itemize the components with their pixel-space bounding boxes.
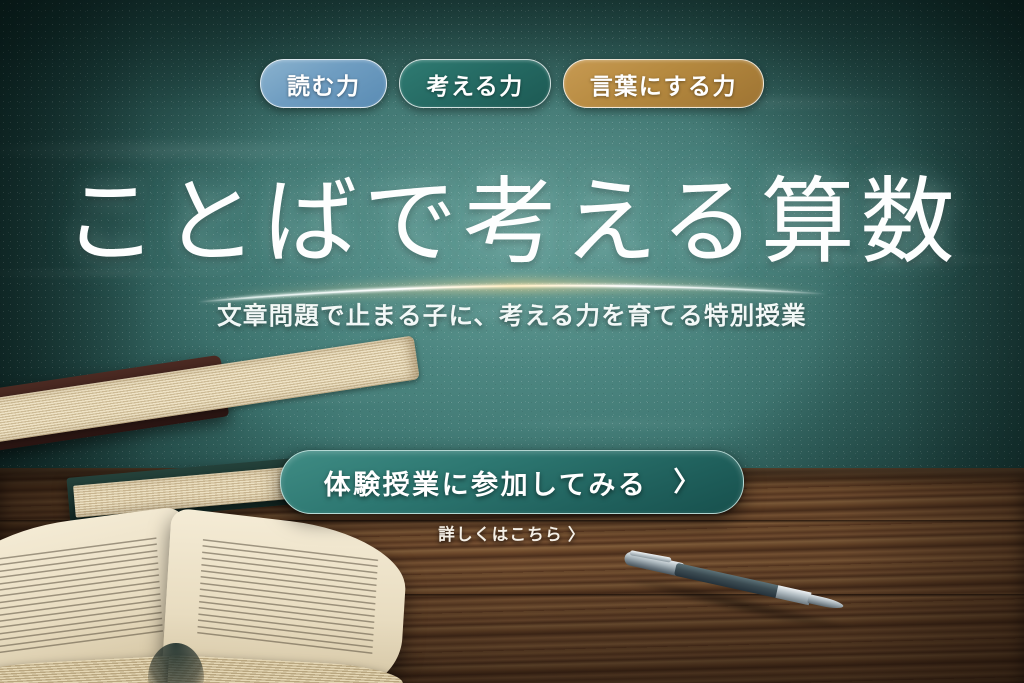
page-title: ことばで考える算数: [0, 174, 1024, 273]
hero-content: 読む力 考える力 言葉にする力 ことばで考える算数: [0, 0, 1024, 683]
glow-arc-underline: [192, 274, 832, 308]
details-link-label: 詳しくはこちら: [438, 521, 563, 545]
badge-expressing-label: 言葉にする力: [590, 67, 737, 101]
badge-thinking-label: 考える力: [426, 67, 523, 101]
cta-button[interactable]: 体験授業に参加してみる 〉: [280, 450, 744, 514]
badge-row: 読む力 考える力 言葉にする力: [260, 59, 764, 108]
badge-thinking[interactable]: 考える力: [399, 59, 550, 108]
badge-expressing[interactable]: 言葉にする力: [563, 59, 764, 108]
hero-banner: 読む力 考える力 言葉にする力 ことばで考える算数: [0, 0, 1024, 683]
headline-block: ことばで考える算数: [0, 174, 1024, 332]
chevron-right-icon: 〉: [568, 521, 586, 545]
cta-button-label: 体験授業に参加してみる: [324, 463, 648, 502]
badge-reading-label: 読む力: [287, 67, 361, 101]
chevron-right-icon: 〉: [673, 469, 700, 496]
badge-reading[interactable]: 読む力: [260, 59, 388, 108]
details-link[interactable]: 詳しくはこちら 〉: [438, 521, 585, 545]
